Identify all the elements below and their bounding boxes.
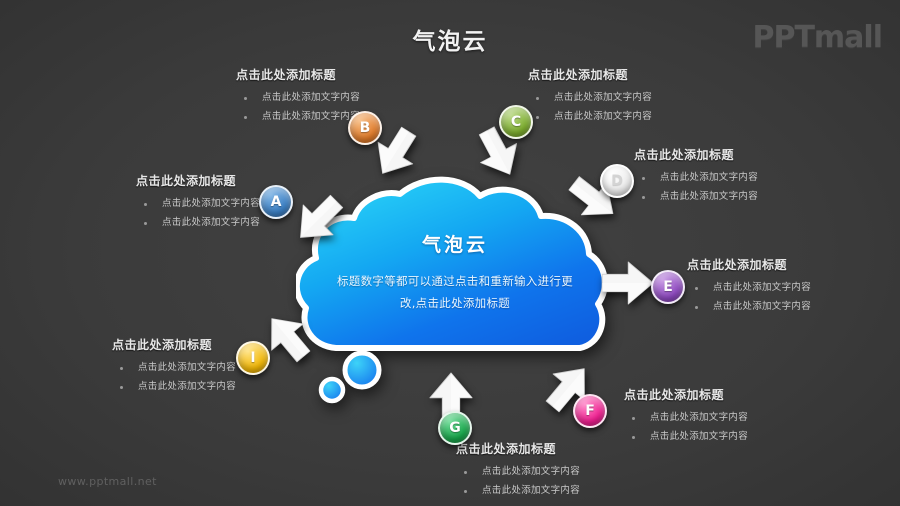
callout-b-bullets: 点击此处添加文字内容 点击此处添加文字内容 [236, 89, 360, 126]
watermark: www.pptmall.net [58, 475, 157, 488]
list-item: 点击此处添加文字内容 [634, 188, 758, 207]
list-item: 点击此处添加文字内容 [528, 108, 652, 127]
list-item: 点击此处添加文字内容 [634, 169, 758, 188]
callout-d-bullets: 点击此处添加文字内容 点击此处添加文字内容 [634, 169, 758, 206]
callout-block-g[interactable]: 点击此处添加标题 点击此处添加文字内容 点击此处添加文字内容 [456, 440, 580, 500]
list-item: 点击此处添加文字内容 [624, 409, 748, 428]
arrow-e [596, 252, 658, 318]
list-item: 点击此处添加文字内容 [236, 108, 360, 127]
callout-i-bullets: 点击此处添加文字内容 点击此处添加文字内容 [112, 359, 236, 396]
list-item: 点击此处添加文字内容 [456, 482, 580, 501]
callout-f-bullets: 点击此处添加文字内容 点击此处添加文字内容 [624, 409, 748, 446]
list-item: 点击此处添加文字内容 [136, 195, 260, 214]
badge-f[interactable]: F [573, 394, 607, 428]
callout-e-heading: 点击此处添加标题 [687, 256, 811, 273]
badge-b[interactable]: B [348, 111, 382, 145]
list-item: 点击此处添加文字内容 [528, 89, 652, 108]
callout-block-i[interactable]: 点击此处添加标题 点击此处添加文字内容 点击此处添加文字内容 [112, 336, 236, 396]
callout-a-heading: 点击此处添加标题 [136, 172, 260, 189]
callout-block-e[interactable]: 点击此处添加标题 点击此处添加文字内容 点击此处添加文字内容 [687, 256, 811, 316]
badge-c-letter: C [511, 114, 521, 130]
callout-b-heading: 点击此处添加标题 [236, 66, 360, 83]
callout-block-f[interactable]: 点击此处添加标题 点击此处添加文字内容 点击此处添加文字内容 [624, 386, 748, 446]
badge-d-letter: D [611, 173, 623, 189]
callout-g-heading: 点击此处添加标题 [456, 440, 580, 457]
badge-i[interactable]: I [236, 341, 270, 375]
badge-c[interactable]: C [499, 105, 533, 139]
block-arrow-icon [596, 252, 658, 314]
callout-c-bullets: 点击此处添加文字内容 点击此处添加文字内容 [528, 89, 652, 126]
callout-block-d[interactable]: 点击此处添加标题 点击此处添加文字内容 点击此处添加文字内容 [634, 146, 758, 206]
callout-block-b[interactable]: 点击此处添加标题 点击此处添加文字内容 点击此处添加文字内容 [236, 66, 360, 126]
callout-e-bullets: 点击此处添加文字内容 点击此处添加文字内容 [687, 279, 811, 316]
badge-g[interactable]: G [438, 411, 472, 445]
callout-block-c[interactable]: 点击此处添加标题 点击此处添加文字内容 点击此处添加文字内容 [528, 66, 652, 126]
callout-c-heading: 点击此处添加标题 [528, 66, 652, 83]
badge-b-letter: B [360, 120, 371, 136]
list-item: 点击此处添加文字内容 [112, 378, 236, 397]
badge-e[interactable]: E [651, 270, 685, 304]
badge-d[interactable]: D [600, 164, 634, 198]
badge-g-letter: G [449, 420, 461, 436]
list-item: 点击此处添加文字内容 [687, 279, 811, 298]
arrow-a [288, 188, 350, 254]
badge-a[interactable]: A [259, 185, 293, 219]
list-item: 点击此处添加文字内容 [112, 359, 236, 378]
callout-d-heading: 点击此处添加标题 [634, 146, 758, 163]
list-item: 点击此处添加文字内容 [624, 428, 748, 447]
list-item: 点击此处添加文字内容 [236, 89, 360, 108]
callout-f-heading: 点击此处添加标题 [624, 386, 748, 403]
badge-e-letter: E [663, 279, 673, 295]
callout-block-a[interactable]: 点击此处添加标题 点击此处添加文字内容 点击此处添加文字内容 [136, 172, 260, 232]
callout-g-bullets: 点击此处添加文字内容 点击此处添加文字内容 [456, 463, 580, 500]
badge-i-letter: I [250, 350, 255, 366]
list-item: 点击此处添加文字内容 [687, 298, 811, 317]
list-item: 点击此处添加文字内容 [456, 463, 580, 482]
callout-a-bullets: 点击此处添加文字内容 点击此处添加文字内容 [136, 195, 260, 232]
badge-f-letter: F [585, 403, 595, 419]
block-arrow-icon [288, 188, 350, 250]
brand-logo: PPTmall [752, 20, 882, 55]
slide-canvas: 气泡云 PPTmall www.pptmall.net [0, 0, 900, 506]
badge-a-letter: A [271, 194, 282, 210]
list-item: 点击此处添加文字内容 [136, 214, 260, 233]
callout-i-heading: 点击此处添加标题 [112, 336, 236, 353]
